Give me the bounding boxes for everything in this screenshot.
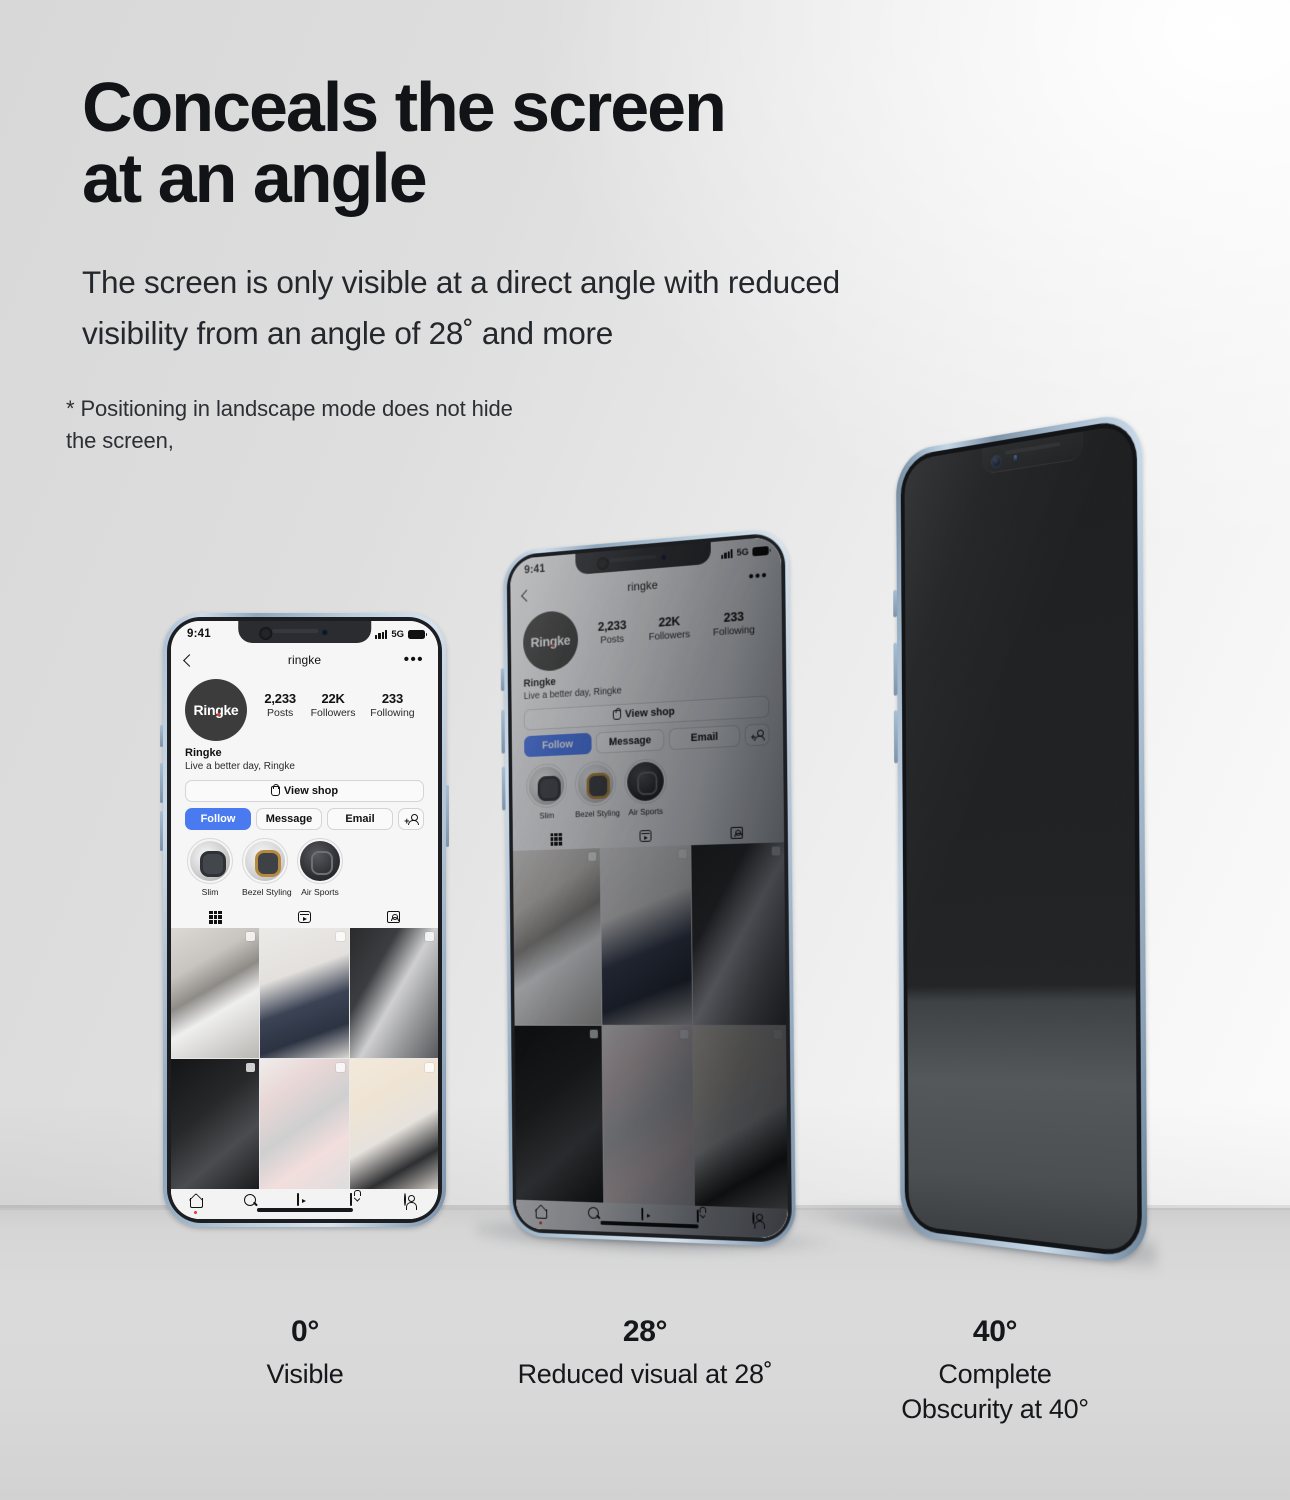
volume-up-button[interactable]	[893, 643, 897, 696]
profile-username: ringke	[171, 653, 438, 667]
phone-mockup-40deg	[896, 410, 1147, 1265]
page-subtitle: The screen is only visible at a direct a…	[82, 257, 1082, 359]
add-person-button[interactable]: +	[398, 808, 424, 830]
tagged-icon	[731, 827, 743, 839]
phone-screen: 9:41 5G ringke ••• Ringke	[171, 621, 438, 1219]
phone-mockup-0deg: 9:41 5G ringke ••• Ringke	[163, 613, 446, 1227]
stat-following[interactable]: 233 Following	[370, 691, 414, 719]
status-time: 9:41	[187, 628, 211, 640]
battery-icon	[408, 630, 425, 639]
shop-icon	[696, 1209, 698, 1222]
network-label: 5G	[737, 546, 749, 558]
stat-following[interactable]: 233 Following	[713, 608, 755, 639]
tabbar-shop[interactable]	[350, 1194, 365, 1209]
view-shop-button[interactable]: View shop	[185, 780, 424, 802]
photo-thumbnail[interactable]	[602, 1026, 694, 1206]
photo-thumbnail[interactable]	[601, 845, 693, 1025]
highlight-thumbnail	[245, 841, 285, 881]
follow-button[interactable]: Follow	[185, 808, 251, 830]
multi-post-icon	[425, 932, 434, 941]
photo-thumbnail[interactable]	[350, 928, 438, 1058]
signal-bars-icon	[375, 630, 387, 639]
caption-0deg: 0° Visible	[175, 1315, 435, 1392]
profile-icon	[404, 1193, 406, 1206]
multi-post-icon	[425, 1063, 434, 1072]
avatar[interactable]: Ringke	[523, 609, 578, 672]
proximity-sensor-icon	[322, 629, 329, 636]
view-shop-label: View shop	[284, 785, 338, 797]
tabbar-home[interactable]	[190, 1194, 205, 1209]
profile-bio: Ringke Live a better day, Ringke	[171, 741, 438, 772]
stat-label: Posts	[264, 707, 296, 719]
notch	[238, 621, 372, 643]
profile-navbar: ringke •••	[171, 647, 438, 673]
multi-post-icon	[678, 849, 686, 858]
shop-icon	[350, 1193, 352, 1206]
volume-up-button[interactable]	[160, 763, 163, 803]
tab-reels[interactable]	[600, 824, 691, 848]
avatar-label: Ringke	[194, 702, 239, 718]
highlight-ring	[297, 838, 343, 884]
view-shop-label: View shop	[625, 706, 675, 720]
grid-icon	[550, 833, 562, 846]
highlight-thumbnail	[190, 841, 230, 881]
home-notification-dot	[539, 1221, 542, 1224]
stat-value: 22K	[648, 613, 690, 631]
stat-label: Followers	[649, 628, 691, 643]
reels-icon	[642, 1207, 644, 1220]
highlight-bezel-styling[interactable]: Bezel Styling	[242, 838, 288, 897]
stat-followers[interactable]: 22K Followers	[648, 613, 690, 643]
highlight-slim[interactable]: Slim	[187, 838, 233, 897]
multi-post-icon	[336, 932, 345, 941]
caption-degree: 40°	[845, 1315, 1145, 1349]
home-indicator	[256, 1208, 352, 1212]
power-button[interactable]	[446, 785, 449, 847]
phone-screen-obscured	[904, 423, 1137, 1253]
highlight-caption: Bezel Styling	[575, 808, 616, 819]
tab-tagged[interactable]	[690, 820, 784, 845]
stat-followers[interactable]: 22K Followers	[311, 691, 356, 719]
message-button[interactable]: Message	[256, 808, 322, 830]
stat-posts[interactable]: 2,233 Posts	[264, 691, 296, 719]
phone-mockup-28deg: 9:41 5G ringke ••• Ringke	[503, 527, 796, 1247]
highlight-thumbnail	[627, 761, 664, 802]
photo-thumbnail[interactable]	[693, 1026, 788, 1209]
avatar-label: Ringke	[531, 632, 571, 650]
tabbar-home[interactable]	[536, 1205, 549, 1220]
highlight-ring	[187, 838, 233, 884]
photo-thumbnail[interactable]	[171, 1059, 259, 1189]
add-person-icon: +	[404, 814, 418, 825]
highlight-air-sports[interactable]: Air Sports	[297, 838, 343, 897]
photo-thumbnail[interactable]	[350, 1059, 438, 1189]
highlight-ring	[242, 838, 288, 884]
stat-label: Followers	[311, 707, 356, 719]
shopping-bag-icon	[271, 786, 280, 796]
highlight-slim[interactable]: Slim	[526, 763, 567, 821]
multi-post-icon	[588, 852, 596, 861]
bottom-tab-bar	[171, 1189, 438, 1219]
phone-screen: 9:41 5G ringke ••• Ringke	[510, 536, 788, 1239]
content-tabs	[171, 906, 438, 928]
photo-thumbnail[interactable]	[260, 928, 348, 1058]
instagram-profile-screen: 9:41 5G ringke ••• Ringke	[171, 621, 438, 1219]
tabbar-shop[interactable]	[696, 1210, 710, 1225]
profile-description: Live a better day, Ringke	[185, 761, 424, 772]
reels-icon	[297, 1193, 299, 1206]
network-label: 5G	[391, 629, 404, 640]
earpiece-speaker	[610, 555, 656, 563]
stat-label: Following	[370, 707, 414, 719]
caption-degree: 0°	[175, 1315, 435, 1349]
multi-post-icon	[336, 1063, 345, 1072]
tagged-icon	[387, 911, 400, 923]
stat-label: Following	[713, 624, 755, 639]
signal-bars-icon	[721, 549, 733, 559]
mute-switch[interactable]	[160, 725, 163, 747]
caption-text: Visible	[175, 1357, 435, 1392]
stat-posts[interactable]: 2,233 Posts	[598, 617, 627, 646]
profile-name: Ringke	[185, 747, 424, 759]
profile-header: Ringke 2,233 Posts 22K Followers	[171, 673, 438, 741]
proximity-sensor-icon	[660, 553, 667, 560]
copy-block: Conceals the screen at an angle The scre…	[82, 72, 1122, 458]
multi-post-icon	[680, 1030, 688, 1039]
profile-action-row: Follow Message Email +	[185, 808, 424, 830]
add-person-button[interactable]: +	[745, 723, 770, 746]
volume-down-button[interactable]	[502, 767, 506, 811]
caption-28deg: 28° Reduced visual at 28˚	[455, 1315, 835, 1392]
highlight-caption: Slim	[527, 810, 568, 821]
highlight-ring	[624, 758, 667, 805]
proximity-sensor-icon	[1014, 455, 1017, 462]
photo-thumbnail[interactable]	[260, 1059, 348, 1189]
tabbar-search[interactable]	[244, 1194, 259, 1209]
grid-icon	[209, 911, 222, 924]
multi-post-icon	[590, 1030, 598, 1039]
mute-switch[interactable]	[501, 668, 505, 691]
home-notification-dot	[194, 1211, 197, 1214]
stat-label: Posts	[598, 633, 627, 647]
highlight-caption: Air Sports	[297, 887, 343, 897]
story-highlights: Slim Bezel Styling Air Sports	[512, 744, 784, 821]
caption-40deg: 40° Complete Obscurity at 40°	[845, 1315, 1145, 1426]
stat-value: 2,233	[264, 691, 296, 706]
multi-post-icon	[774, 1030, 783, 1039]
highlight-thumbnail	[529, 766, 565, 806]
caption-text: Complete Obscurity at 40°	[845, 1357, 1145, 1426]
highlight-ring	[575, 760, 617, 806]
photo-thumbnail[interactable]	[513, 848, 602, 1025]
volume-down-button[interactable]	[160, 811, 163, 851]
stat-value: 233	[370, 691, 414, 706]
multi-post-icon	[246, 932, 255, 941]
volume-down-button[interactable]	[894, 710, 898, 763]
photo-thumbnail[interactable]	[515, 1026, 604, 1203]
multi-post-icon	[246, 1063, 255, 1072]
multi-post-icon	[772, 846, 781, 855]
tab-grid[interactable]	[171, 906, 260, 928]
tabbar-profile[interactable]	[404, 1194, 419, 1209]
tabbar-search[interactable]	[588, 1206, 602, 1221]
tabbar-reels[interactable]	[642, 1208, 656, 1223]
stat-value: 2,233	[598, 617, 627, 634]
caption-text: Reduced visual at 28˚	[455, 1357, 835, 1392]
highlight-thumbnail	[577, 763, 613, 803]
story-highlights: Slim Bezel Styling Air Sports	[171, 830, 438, 897]
front-camera-icon	[597, 557, 609, 571]
shopping-bag-icon	[613, 710, 621, 720]
highlight-ring	[526, 763, 567, 809]
product-feature-slide: Conceals the screen at an angle The scre…	[0, 0, 1290, 1500]
photo-thumbnail[interactable]	[171, 928, 259, 1058]
highlight-caption: Air Sports	[625, 806, 667, 817]
avatar-accent-dot	[217, 713, 220, 716]
mute-switch[interactable]	[893, 590, 897, 618]
reels-icon	[639, 830, 651, 842]
highlight-bezel-styling[interactable]: Bezel Styling	[575, 760, 617, 819]
highlight-thumbnail	[300, 841, 340, 881]
tab-reels[interactable]	[260, 906, 349, 928]
reels-icon	[298, 911, 311, 923]
highlight-caption: Bezel Styling	[242, 887, 288, 897]
status-time: 9:41	[524, 563, 545, 576]
stat-value: 233	[713, 608, 755, 626]
volume-up-button[interactable]	[501, 710, 505, 754]
profile-stats: 2,233 Posts 22K Followers 233 Following	[578, 595, 769, 648]
highlight-air-sports[interactable]: Air Sports	[624, 758, 667, 817]
page-title: Conceals the screen at an angle	[82, 72, 1122, 215]
caption-degree: 28°	[455, 1315, 835, 1349]
tab-grid[interactable]	[513, 827, 601, 851]
tabbar-profile[interactable]	[752, 1212, 766, 1227]
avatar[interactable]: Ringke	[185, 679, 247, 741]
tab-tagged[interactable]	[349, 906, 438, 928]
front-camera-icon	[259, 627, 272, 640]
email-button[interactable]: Email	[327, 808, 393, 830]
photo-thumbnail[interactable]	[691, 842, 786, 1025]
profile-icon	[752, 1211, 754, 1224]
earpiece-speaker	[272, 629, 317, 633]
instagram-profile-screen: 9:41 5G ringke ••• Ringke	[510, 536, 788, 1239]
photo-grid	[513, 842, 788, 1209]
add-person-icon: +	[750, 729, 763, 741]
screen-glare	[904, 423, 1137, 1253]
battery-icon	[752, 546, 768, 556]
profile-stats: 2,233 Posts 22K Followers 233 Following	[247, 679, 424, 719]
tabbar-reels[interactable]	[297, 1194, 312, 1209]
photo-grid	[171, 928, 438, 1189]
stat-value: 22K	[311, 691, 356, 706]
highlight-caption: Slim	[187, 887, 233, 897]
